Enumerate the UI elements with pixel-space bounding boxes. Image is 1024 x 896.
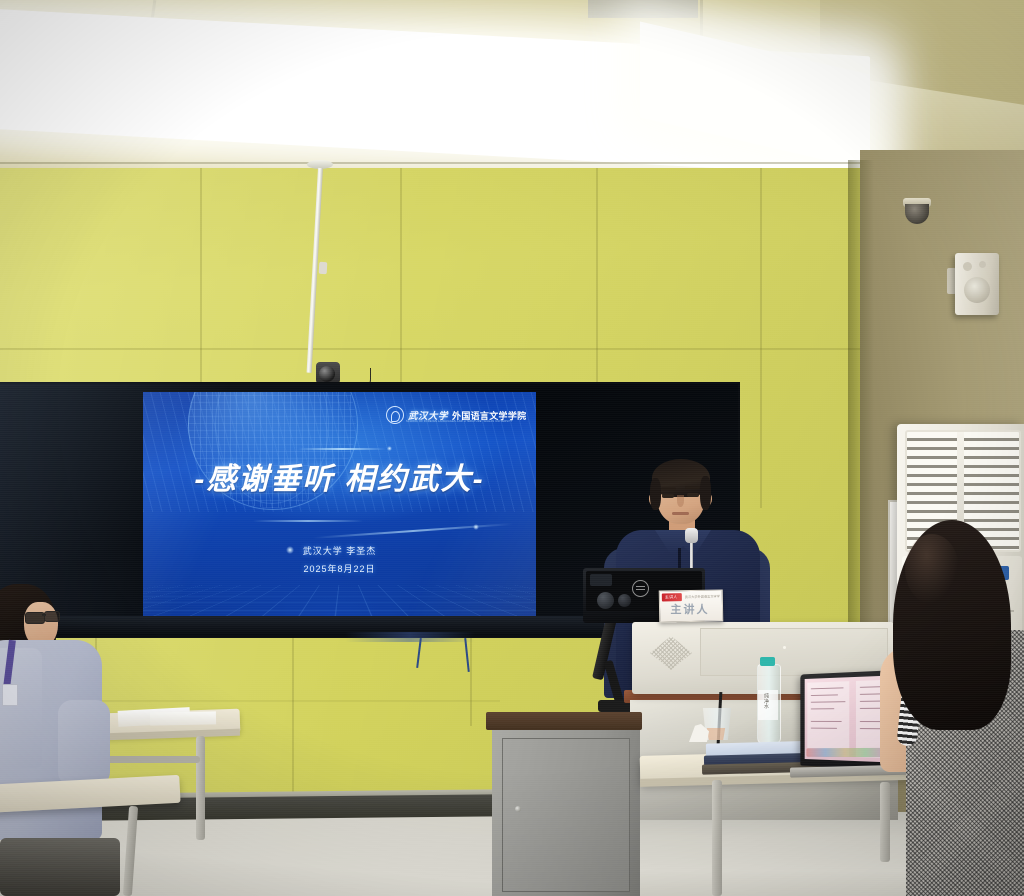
name-card-name: 主讲人 [659, 601, 721, 617]
monitor-port-panel [590, 574, 612, 586]
lecture-hall-photo: 武汉大学 外国语言文学学院 SCHOOL OF FOREIGN LANGUAGE… [0, 0, 1024, 896]
cup-contents [706, 728, 726, 740]
chair-base [0, 838, 120, 896]
right-attendee-hair-highlight [905, 534, 959, 604]
hp-logo-icon [632, 580, 649, 597]
presenter-eye [662, 494, 674, 498]
speaker-tweeter [963, 262, 972, 271]
speaker-woofer [964, 277, 990, 303]
presentation-slide: 武汉大学 外国语言文学学院 SCHOOL OF FOREIGN LANGUAGE… [143, 392, 536, 628]
bottle-label: 纯净水 [758, 690, 778, 720]
wall-panel-seam [0, 348, 866, 350]
wall-panel-seam [470, 636, 472, 726]
wall-panel-seam [292, 636, 294, 796]
presenter-hair-side [650, 478, 661, 510]
desk-leg [880, 782, 890, 862]
microphone-icon [685, 528, 698, 543]
document-column [807, 681, 849, 757]
presenter-eyebrow [685, 486, 700, 489]
wall-panel-seam [400, 168, 402, 386]
presenter-eyebrow [661, 487, 676, 490]
bottle-cap [760, 657, 775, 666]
wall-panel-seam [760, 168, 762, 508]
name-card-badge-text: 主讲人 [665, 595, 678, 601]
id-badge [2, 684, 18, 706]
presenter-eye [687, 493, 699, 497]
cabinet-door[interactable] [502, 738, 630, 892]
eyeglasses-bridge [42, 614, 46, 616]
monitor-knob-secondary[interactable] [618, 594, 631, 607]
eyeglasses-icon [44, 611, 60, 622]
podium-indicator [783, 646, 786, 649]
name-card-subtitle: 武汉大学外国语言文学学院 [685, 593, 720, 599]
podium-panel-inset [700, 628, 888, 676]
ceiling-vent-panel [588, 0, 698, 18]
paper-sheet [150, 711, 216, 725]
cabinet-top [486, 712, 642, 730]
screen-glare [143, 392, 536, 628]
presenter-hair-side [700, 476, 711, 510]
monitor-knob[interactable] [597, 592, 614, 609]
desk-leg [196, 736, 205, 840]
presenter-mouth [672, 512, 689, 515]
camera-pole-joint [319, 262, 328, 274]
bottle-label-text: 纯净水 [763, 693, 770, 709]
left-attendee-arm [58, 700, 110, 786]
wall-panel-seam [596, 168, 598, 384]
display-cable [345, 632, 475, 642]
desk-leg [712, 780, 722, 896]
wall-panel-seam [200, 168, 202, 388]
presenter-nose [677, 495, 684, 507]
speaker-tweeter [979, 261, 986, 268]
ceiling-wall-joint [0, 162, 866, 164]
cabinet-lock-icon[interactable] [515, 806, 521, 812]
